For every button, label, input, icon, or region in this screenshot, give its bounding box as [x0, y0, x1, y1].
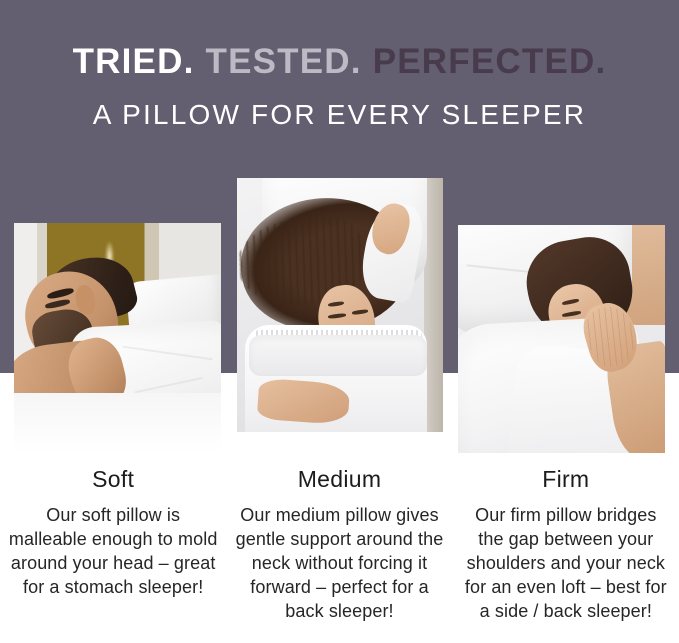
photo-medium	[237, 178, 443, 432]
page-subheadline: A PILLOW FOR EVERY SLEEPER	[0, 100, 679, 131]
photo-firm-scene	[458, 225, 665, 453]
page-headline: TRIED.TESTED.PERFECTED.	[0, 44, 679, 79]
column-medium: Medium Our medium pillow gives gentle su…	[226, 460, 452, 643]
column-description-firm: Our firm pillow bridges the gap between …	[461, 504, 671, 624]
photo-soft	[14, 223, 221, 453]
column-description-soft: Our soft pillow is malleable enough to m…	[8, 504, 218, 600]
photo-soft-scene	[14, 223, 221, 453]
description-columns: Soft Our soft pillow is malleable enough…	[0, 460, 679, 643]
headline-word-tested: TESTED.	[206, 42, 362, 81]
column-title-medium: Medium	[234, 468, 444, 491]
bed-sheet	[14, 393, 221, 453]
column-description-medium: Our medium pillow gives gentle support a…	[234, 504, 444, 624]
nightgown-sleeve	[249, 335, 426, 376]
headline-word-perfected: PERFECTED.	[373, 42, 607, 81]
column-title-firm: Firm	[461, 468, 671, 491]
column-title-soft: Soft	[8, 468, 218, 491]
photo-firm	[458, 225, 665, 453]
column-soft: Soft Our soft pillow is malleable enough…	[0, 460, 226, 643]
headline-word-tried: TRIED.	[73, 42, 195, 81]
column-firm: Firm Our firm pillow bridges the gap bet…	[453, 460, 679, 643]
headboard	[424, 178, 443, 432]
photo-medium-scene	[237, 178, 443, 432]
